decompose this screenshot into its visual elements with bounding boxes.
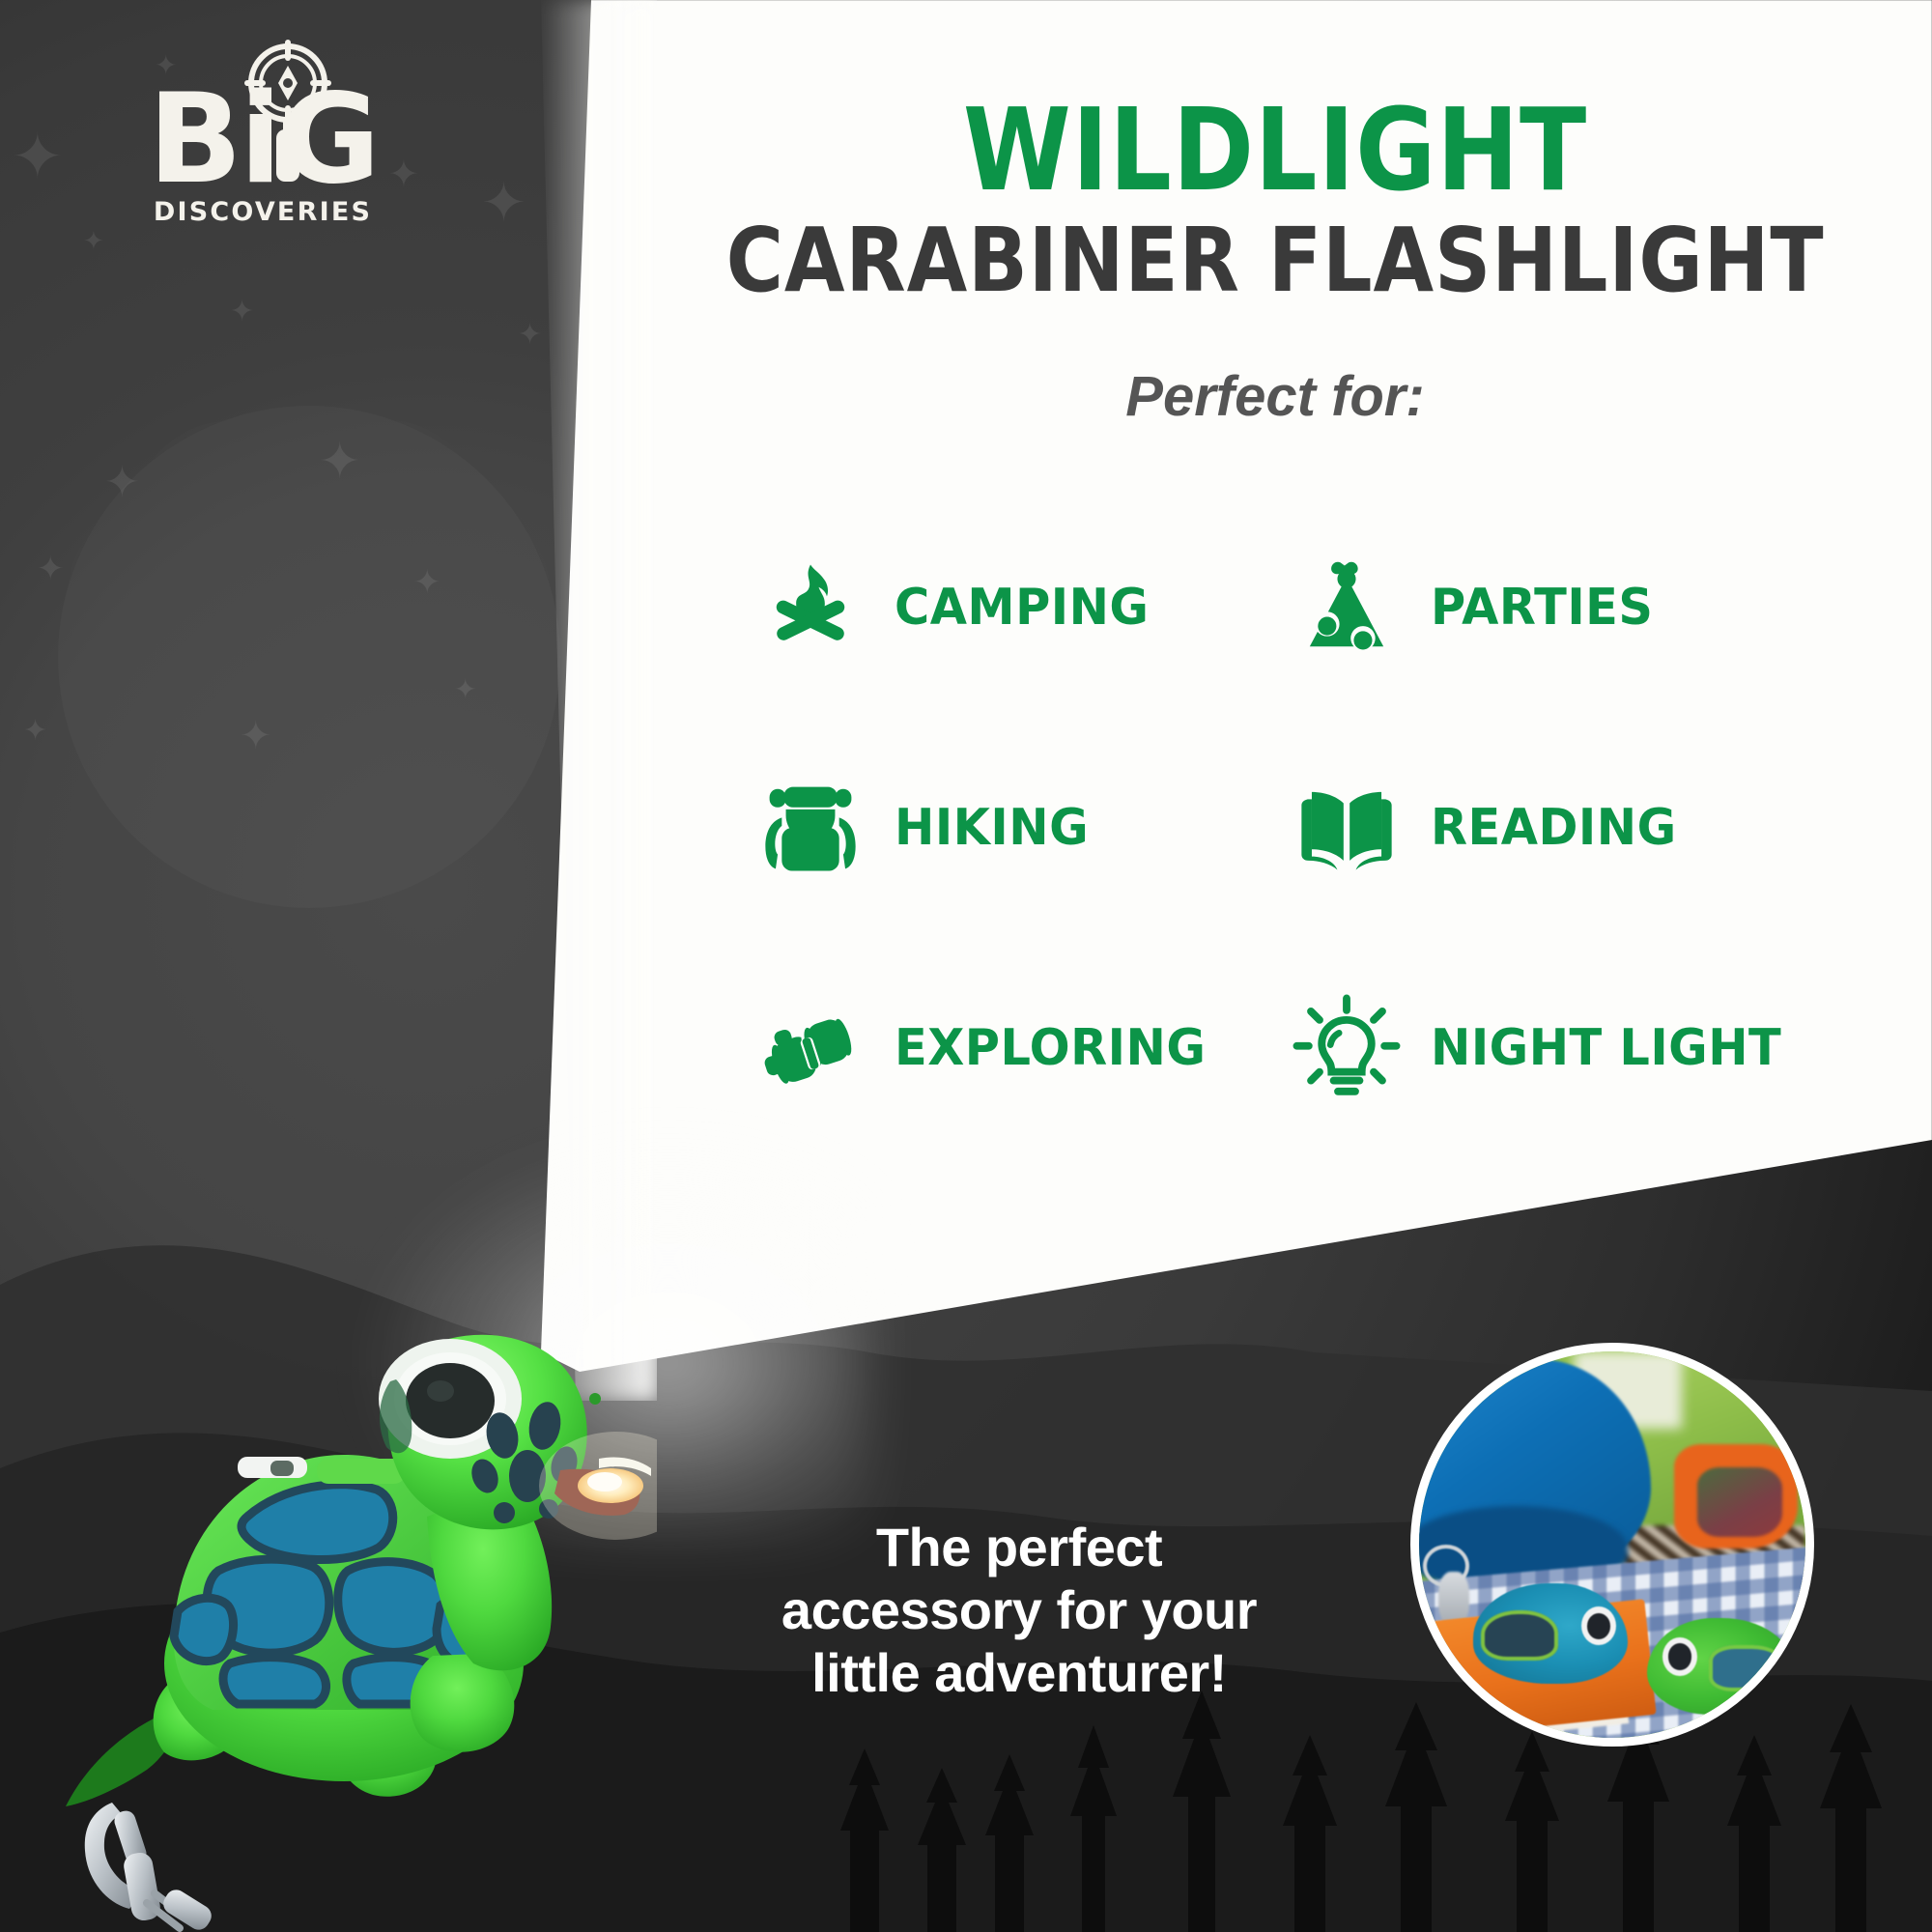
teepee-tent-icon xyxy=(1290,551,1404,665)
open-book-icon xyxy=(1290,771,1404,885)
campfire-icon xyxy=(753,551,867,665)
feature-item-night-light: NIGHT LIGHT xyxy=(1290,991,1826,1105)
tagline-line-2: accessory for your xyxy=(773,1579,1265,1642)
product-title: WILDLIGHT xyxy=(726,93,1823,207)
feature-label: CAMPING xyxy=(895,579,1149,637)
perfect-for-label: Perfect for: xyxy=(638,364,1913,429)
carabiner-clip xyxy=(85,1803,215,1932)
feature-label: HIKING xyxy=(895,799,1089,857)
tagline-line-1: The perfect xyxy=(773,1517,1265,1579)
feature-label: PARTIES xyxy=(1431,579,1653,637)
headline-block: WILDLIGHT CARABINER FLASHLIGHT Perfect f… xyxy=(638,93,1913,429)
photo-green-turtle-shell xyxy=(1709,1645,1786,1691)
feature-label: NIGHT LIGHT xyxy=(1431,1019,1781,1077)
photo-blue-turtle-shell xyxy=(1481,1610,1558,1661)
turtle-flashlight-product xyxy=(58,1227,657,1932)
sparkle-icon: ✦ xyxy=(230,298,254,327)
sparkle-icon: ✦ xyxy=(240,717,272,755)
feature-item-camping: CAMPING xyxy=(753,551,1290,665)
lifestyle-photo xyxy=(1410,1343,1814,1747)
tagline-line-3: little adventurer! xyxy=(773,1642,1265,1705)
photo-green-turtle-eye xyxy=(1662,1637,1697,1676)
tagline-block: The perfect accessory for your little ad… xyxy=(773,1517,1265,1705)
photo-sunglasses-lens xyxy=(1697,1467,1782,1537)
sparkle-icon: ✦ xyxy=(481,176,526,230)
logo-wordmark-row: BiG xyxy=(118,46,408,191)
sparkle-icon: ✦ xyxy=(413,566,441,599)
turtle-nostril xyxy=(589,1393,601,1405)
feature-item-reading: READING xyxy=(1290,771,1826,885)
feature-item-exploring: EXPLORING xyxy=(753,991,1290,1105)
photo-blue-turtle-eye xyxy=(1581,1606,1616,1645)
backpack-icon xyxy=(753,771,867,885)
sparkle-icon: ✦ xyxy=(37,553,65,585)
lightbulb-icon xyxy=(1290,991,1404,1105)
feature-label: EXPLORING xyxy=(895,1019,1206,1077)
binoculars-icon xyxy=(753,991,867,1105)
feature-item-parties: PARTIES xyxy=(1290,551,1826,665)
sparkle-icon: ✦ xyxy=(104,462,140,504)
product-subtitle: CARABINER FLASHLIGHT xyxy=(714,214,1836,308)
sparkle-icon: ✦ xyxy=(518,321,542,350)
sparkle-icon: ✦ xyxy=(12,126,64,187)
lifestyle-photo-content xyxy=(1419,1351,1805,1738)
compass-magnifier-icon xyxy=(236,39,340,185)
brand-logo[interactable]: BiG DISCOVERIES xyxy=(118,46,408,227)
sparkle-icon: ✦ xyxy=(23,717,47,746)
feature-item-hiking: HIKING xyxy=(753,771,1290,885)
feature-label: READING xyxy=(1431,799,1677,857)
feature-list: CAMPING PARTIES xyxy=(753,551,1826,1105)
sparkle-icon: ✦ xyxy=(319,437,361,487)
product-marketing-poster: ✦ ✦ ✦ ✦ ✦ ✦ ✦ ✦ ✦ ✦ ✦ ✦ ✦ ✦ BiG xyxy=(0,0,1932,1932)
sparkle-icon: ✦ xyxy=(454,676,476,703)
sparkle-icon: ✦ xyxy=(83,228,104,253)
